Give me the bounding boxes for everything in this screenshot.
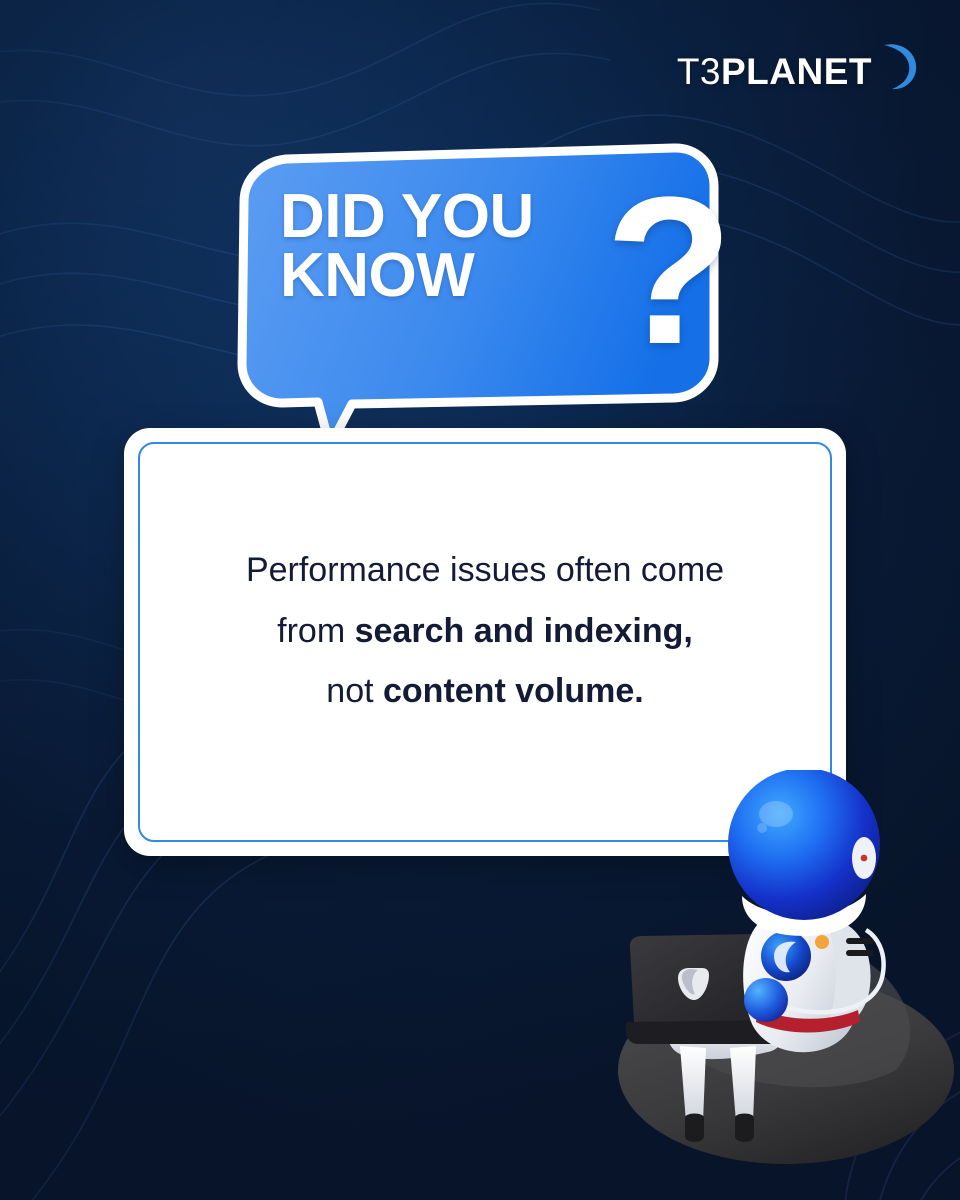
fact-text-line3: not content volume. bbox=[170, 661, 800, 722]
brand-logo: T3PLANET bbox=[677, 44, 922, 98]
did-you-know-bubble: DID YOU KNOW ? bbox=[222, 140, 742, 460]
fact-text-line2: from search and indexing, bbox=[170, 601, 800, 662]
social-post-canvas: T3PLANET DID YOU KNOW ? Performance iss bbox=[0, 0, 960, 1200]
astronaut-boot-right bbox=[735, 1114, 754, 1143]
fact-line2-plain: from bbox=[277, 612, 354, 650]
crescent-arc-icon bbox=[870, 39, 922, 93]
fact-text: Performance issues often come from searc… bbox=[170, 540, 800, 722]
fact-text-line1: Performance issues often come bbox=[170, 540, 800, 601]
helmet-highlight-small bbox=[757, 823, 767, 833]
suit-stripe-2 bbox=[846, 950, 874, 956]
helmet-port-light bbox=[861, 855, 868, 862]
suit-stripe-1 bbox=[846, 938, 874, 944]
brand-logo-text: T3PLANET bbox=[677, 53, 872, 90]
helmet-highlight-large bbox=[759, 801, 793, 827]
logo-text-planet: PLANET bbox=[721, 51, 872, 92]
astronaut-with-laptop-illustration bbox=[590, 770, 960, 1170]
fact-line3-plain: not bbox=[326, 672, 383, 710]
logo-text-t3: T3 bbox=[677, 51, 721, 92]
astronaut-hand-orb bbox=[744, 978, 788, 1022]
t3planet-emblem-icon bbox=[761, 931, 811, 981]
astronaut-boot-left bbox=[685, 1114, 704, 1143]
fact-line3-bold: content volume. bbox=[383, 672, 644, 710]
question-mark-glyph: ? bbox=[605, 166, 733, 376]
suit-orange-light bbox=[815, 935, 829, 949]
fact-line2-bold: search and indexing, bbox=[355, 612, 693, 650]
